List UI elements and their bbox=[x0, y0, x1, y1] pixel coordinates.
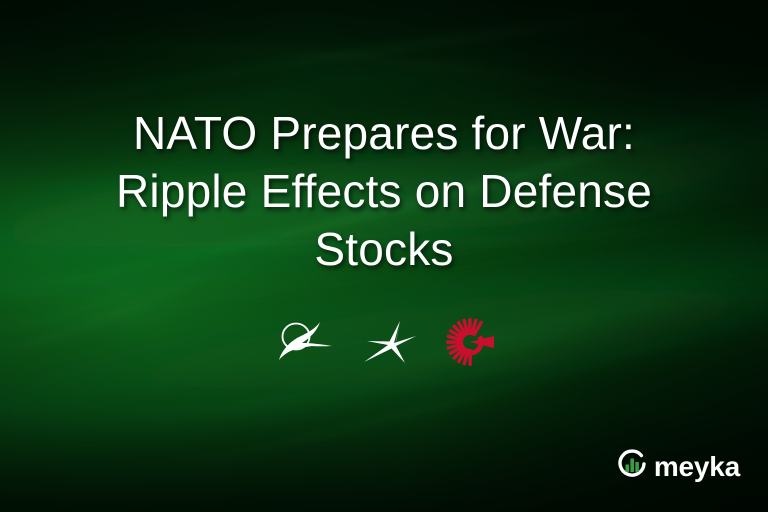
banner: NATO Prepares for War: Ripple Effects on… bbox=[0, 0, 768, 512]
meyka-bar-chart-ring-icon bbox=[615, 447, 649, 486]
lockheed-martin-logo-icon bbox=[361, 319, 419, 365]
northrop-grumman-logo-icon bbox=[445, 318, 495, 366]
boeing-logo-icon bbox=[273, 319, 335, 365]
brand-name: meyka bbox=[654, 453, 740, 481]
title-container: NATO Prepares for War: Ripple Effects on… bbox=[0, 104, 768, 278]
company-logo-row bbox=[0, 318, 768, 366]
page-title: NATO Prepares for War: Ripple Effects on… bbox=[40, 104, 728, 278]
brand-logo: meyka bbox=[615, 447, 740, 486]
